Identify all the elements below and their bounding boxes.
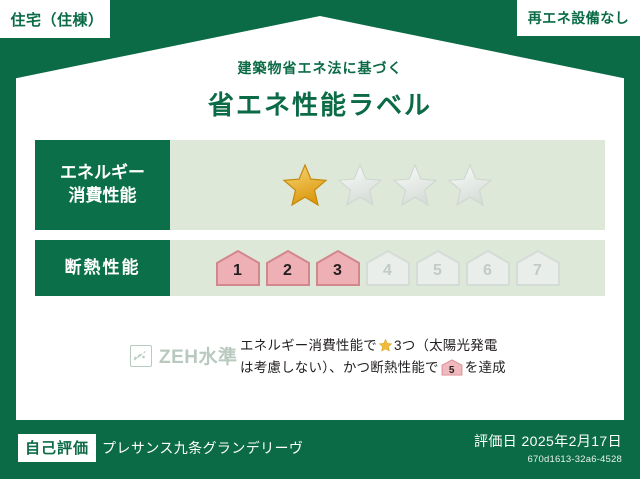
insulation-step-empty: 7 xyxy=(515,249,561,287)
achievement-note-line-1: エネルギー消費性能で3つ（太陽光発電 xyxy=(240,335,605,357)
zeh-chart-icon xyxy=(130,345,152,367)
building-type-tag: 住宅（住棟） xyxy=(0,0,110,38)
renewable-energy-tag: 再エネ設備なし xyxy=(517,0,640,36)
achievement-note-line-2: は考慮しない）、かつ断熱性能で5を達成 xyxy=(240,357,605,379)
insulation-step-value: 1 xyxy=(215,262,261,280)
insulation-step-value: 4 xyxy=(365,262,411,280)
note-text-2a: は考慮しない）、かつ断熱性能で xyxy=(240,360,439,375)
footer-right: 評価日 2025年2月17日 670d1613-32a6-4528 xyxy=(474,431,622,465)
star-icon-empty xyxy=(391,162,439,208)
achievement-note: エネルギー消費性能で3つ（太陽光発電 は考慮しない）、かつ断熱性能で5を達成 xyxy=(240,332,605,380)
insulation-step-value: 6 xyxy=(465,262,511,280)
zeh-standard-label: ZEH水準 xyxy=(159,342,238,369)
title-block: 建築物省エネ法に基づく 省エネ性能ラベル xyxy=(0,58,640,122)
note-text-1b: 3つ（太陽光発電 xyxy=(394,338,498,353)
insulation-step-empty: 5 xyxy=(415,249,461,287)
evaluation-date: 評価日 2025年2月17日 xyxy=(474,431,622,451)
energy-performance-row: エネルギー 消費性能 xyxy=(35,140,605,230)
inline-house-value: 5 xyxy=(441,363,463,380)
zeh-note-area: ZEH水準 エネルギー消費性能で3つ（太陽光発電 は考慮しない）、かつ断熱性能で… xyxy=(35,332,605,380)
self-evaluation-badge: 自己評価 xyxy=(18,434,96,462)
energy-performance-label: エネルギー 消費性能 xyxy=(35,140,170,230)
energy-label-line-1: エネルギー xyxy=(60,162,145,185)
star-icon-empty xyxy=(446,162,494,208)
label-subtitle: 建築物省エネ法に基づく xyxy=(0,58,640,78)
insulation-step-empty: 6 xyxy=(465,249,511,287)
note-text-2b: を達成 xyxy=(465,360,506,375)
insulation-performance-row: 断熱性能 1234567 xyxy=(35,240,605,296)
insulation-step-value: 3 xyxy=(315,262,361,280)
insulation-step-filled: 1 xyxy=(215,249,261,287)
inline-house-badge: 5 xyxy=(441,359,463,376)
energy-performance-value xyxy=(170,140,605,230)
energy-label-line-2: 消費性能 xyxy=(69,185,137,208)
footer-left: 自己評価 プレサンス九条グランデリーヴ xyxy=(18,434,303,462)
insulation-step-value: 7 xyxy=(515,262,561,280)
building-name: プレサンス九条グランデリーヴ xyxy=(102,438,303,458)
insulation-step-filled: 3 xyxy=(315,249,361,287)
inline-star-icon xyxy=(378,338,393,353)
note-text-1a: エネルギー消費性能で xyxy=(240,338,377,353)
insulation-scale: 1234567 xyxy=(215,249,561,287)
insulation-step-value: 5 xyxy=(415,262,461,280)
insulation-step-value: 2 xyxy=(265,262,311,280)
insulation-performance-label: 断熱性能 xyxy=(35,240,170,296)
energy-performance-label: 住宅（住棟） 再エネ設備なし 建築物省エネ法に基づく 省エネ性能ラベル エネルギ… xyxy=(0,0,640,479)
evaluation-id: 670d1613-32a6-4528 xyxy=(474,454,622,465)
insulation-step-filled: 2 xyxy=(265,249,311,287)
insulation-step-empty: 4 xyxy=(365,249,411,287)
insulation-performance-value: 1234567 xyxy=(170,240,605,296)
star-icon-filled xyxy=(281,162,329,208)
page-title: 省エネ性能ラベル xyxy=(0,85,640,122)
zeh-standard-block: ZEH水準 xyxy=(35,332,240,369)
star-icon-empty xyxy=(336,162,384,208)
star-rating xyxy=(281,162,494,208)
